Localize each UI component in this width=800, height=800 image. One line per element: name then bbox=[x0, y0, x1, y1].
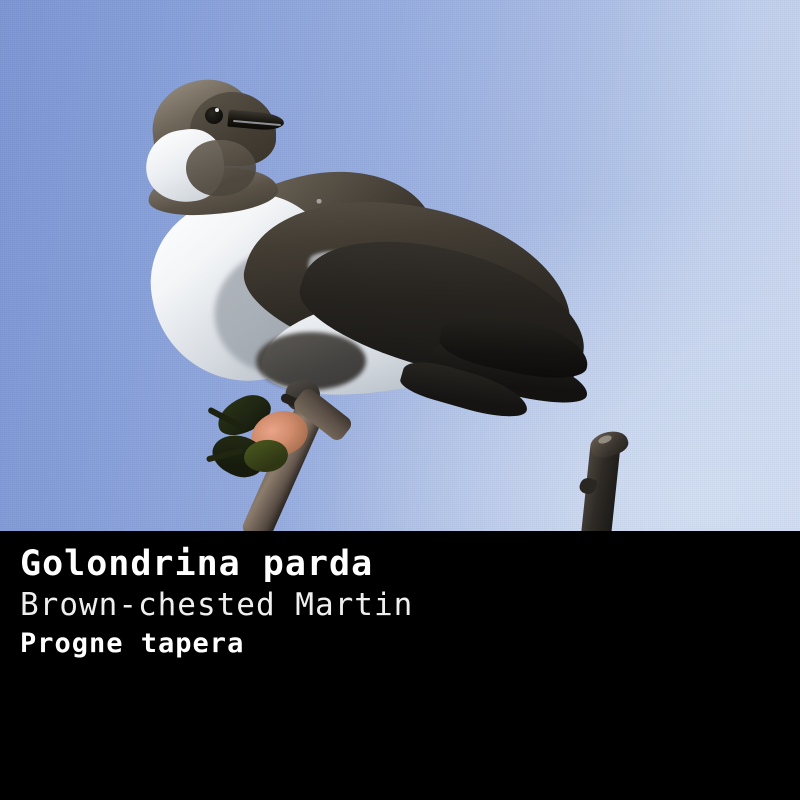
bird-eye-highlight bbox=[215, 108, 219, 112]
bird-eye bbox=[205, 107, 223, 124]
bird-cheek bbox=[186, 140, 256, 196]
caption-band: Golondrina parda Brown-chested Martin Pr… bbox=[0, 531, 800, 800]
english-name: Brown-chested Martin bbox=[20, 585, 413, 625]
bird-subject bbox=[0, 0, 800, 531]
species-title-block: Golondrina parda Brown-chested Martin Pr… bbox=[20, 543, 413, 663]
common-name: Golondrina parda bbox=[20, 543, 413, 585]
scientific-name: Progne tapera bbox=[20, 625, 413, 663]
bird-photograph bbox=[0, 0, 800, 531]
photo-card: Golondrina parda Brown-chested Martin Pr… bbox=[0, 0, 800, 800]
